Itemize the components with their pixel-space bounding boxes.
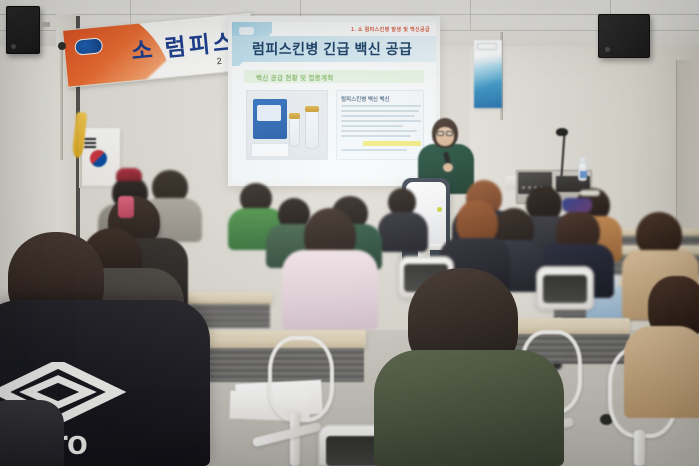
speaker-bracket [40,22,50,27]
taeguk-circle-icon [90,150,107,167]
event-banner-number: 2 [216,56,222,66]
projection-screen: 1. 소 럼피스킨병 발생 및 백신공급 럼피스킨병 긴급 백신 공급 백신 공… [228,16,440,186]
banner-hanger-rod [60,42,63,160]
slide-eyebrow-text: 1. 소 럼피스킨병 발생 및 백신공급 [351,26,430,33]
hand-sanitizer-bottle[interactable] [578,162,587,181]
roll-up-banner [474,40,502,108]
hair-band [580,190,600,196]
lectern-sticker-icon [437,207,442,212]
hair-bow [562,198,592,212]
banner-logo-icon [477,43,497,50]
slide-sub-banner-text: 백신 공급 현황 및 접종계획 [256,72,334,82]
microphone-head-icon [556,128,568,136]
red-beanie [116,168,142,181]
slide-vaccine-photo [246,90,328,160]
glasses-right-lens-icon [446,131,453,136]
wall-speaker-left-icon [6,6,40,54]
wall-speaker-right-icon [598,14,650,58]
banner-wave-decoration [474,54,502,108]
camo-jacket [374,350,564,466]
glasses-left-lens-icon [437,131,444,136]
presenter-hand [443,163,453,172]
slide-logo-icon [239,27,254,35]
presenter-face [436,127,454,146]
slide-text-heading: 럼피스킨병 백신 백신 [341,95,390,103]
slide-text-column: 럼피스킨병 백신 백신 [336,90,424,160]
slide-title: 럼피스킨병 긴급 백신 공급 [252,39,412,59]
presentation-slide: 1. 소 럼피스킨병 발생 및 백신공급 럼피스킨병 긴급 백신 공급 백신 공… [232,22,436,180]
slide-highlight [363,141,421,146]
seminar-room-photo: 소 럼피스 2 1. 소 럼피스킨병 발생 및 백신공급 럼피스킨병 긴급 백신… [0,0,699,466]
korean-flag [82,128,120,186]
hair-clip-icon [118,196,134,218]
sanitizer-pump-icon [580,157,585,163]
